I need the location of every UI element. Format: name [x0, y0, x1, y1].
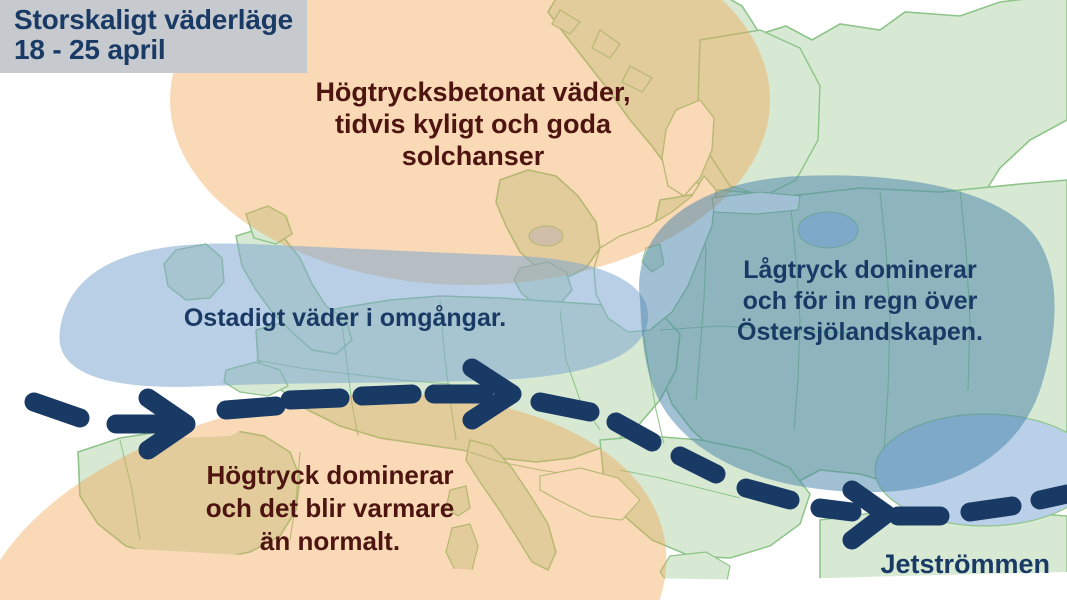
- title-line-2: 18 - 25 april: [14, 35, 293, 65]
- title-banner: Storskaligt väderläge 18 - 25 april: [0, 0, 307, 73]
- annotation-jetstream-label: Jetströmmen: [820, 548, 1050, 580]
- annotation-unstable-weather-west: Ostadigt väder i omgångar.: [110, 303, 580, 333]
- title-line-1: Storskaligt väderläge: [14, 5, 293, 35]
- annotation-low-pressure-east: Lågtryck dominerar och för in regn över …: [690, 255, 1030, 348]
- weather-map-graphic: Storskaligt väderläge 18 - 25 april Högt…: [0, 0, 1067, 600]
- annotation-high-pressure-south: Högtryck dominerar och det blir varmare …: [145, 459, 515, 558]
- annotation-high-pressure-north: Högtrycksbetonat väder, tidvis kyligt oc…: [263, 76, 683, 172]
